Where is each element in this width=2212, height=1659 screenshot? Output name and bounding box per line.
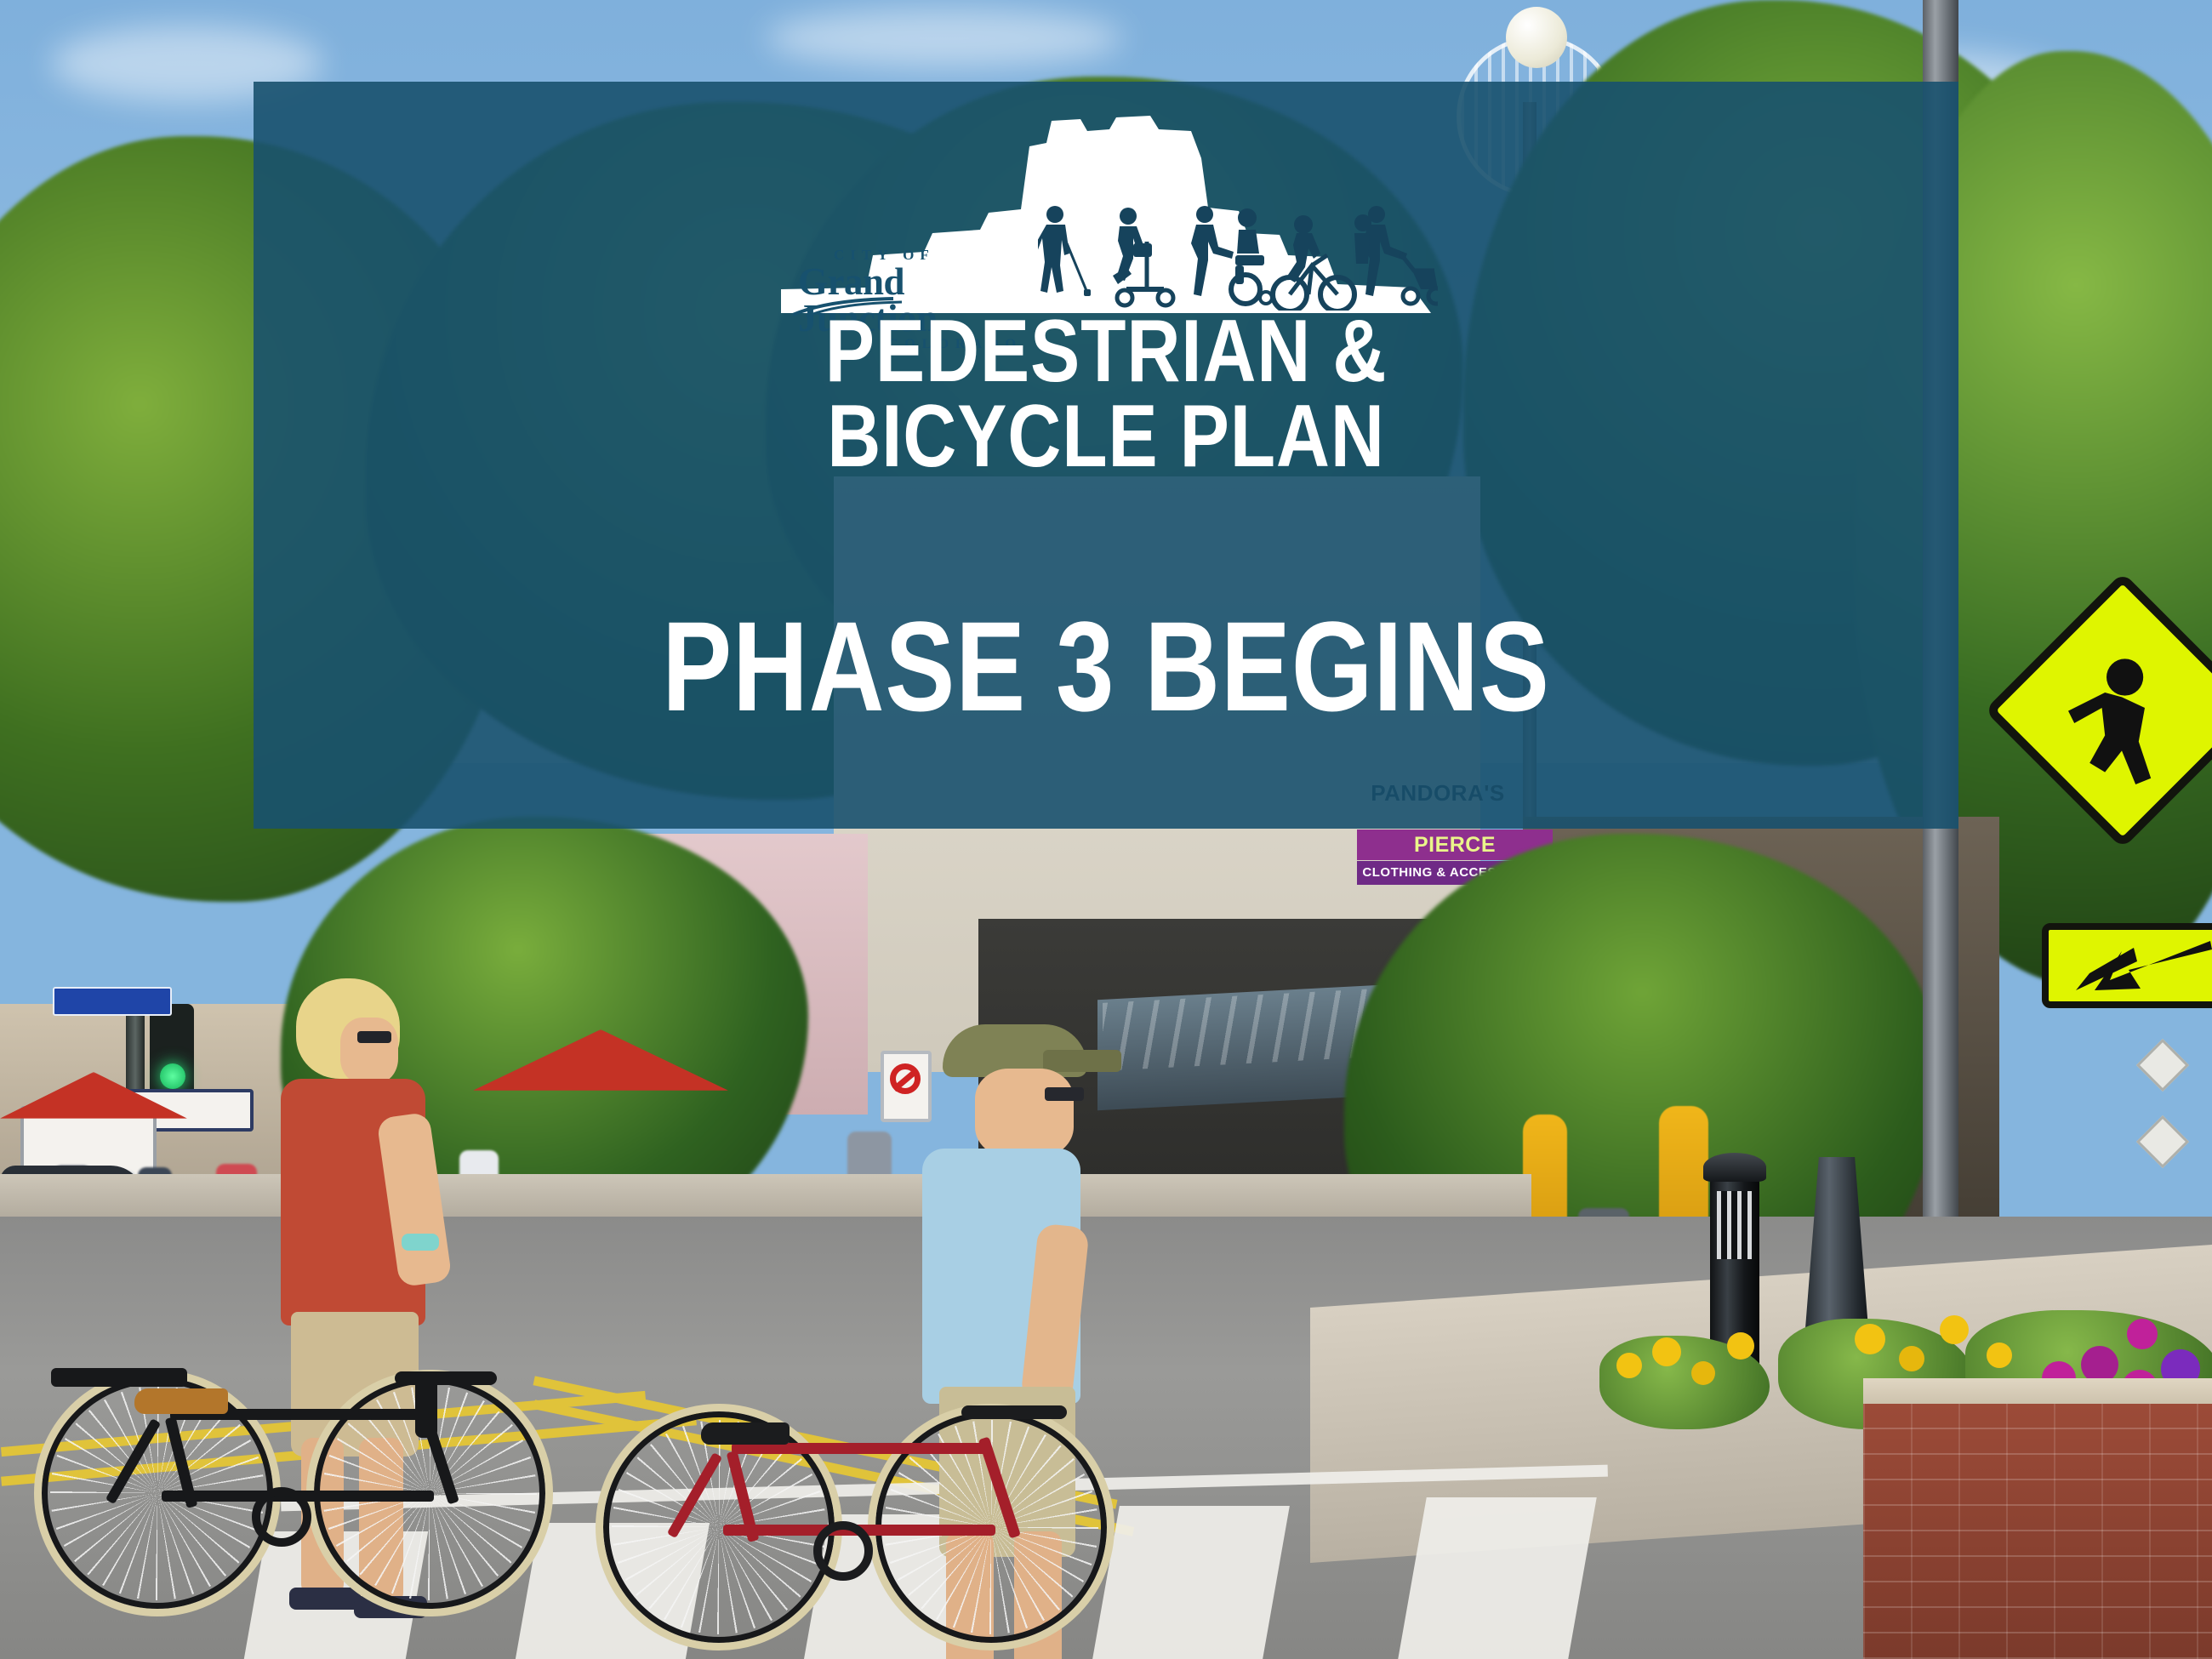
walker-with-cane-icon bbox=[1038, 206, 1091, 296]
traffic-signal-green-light bbox=[160, 1063, 185, 1089]
brick-planter bbox=[1863, 1404, 2212, 1659]
crosswalk-stripe bbox=[1398, 1497, 1597, 1659]
street-name-sign bbox=[53, 987, 172, 1016]
bicycle-red bbox=[596, 1302, 1140, 1659]
reflector-marker bbox=[2136, 1115, 2189, 1168]
wheelchair-pusher-icon bbox=[1191, 206, 1272, 304]
bike-rear-rack bbox=[51, 1368, 187, 1387]
bicycle-black bbox=[34, 1259, 579, 1616]
logo-lockup: CITY OF Grand Junction COLORADO bbox=[254, 105, 1958, 327]
bollard-stripes bbox=[1717, 1191, 1753, 1259]
flower-yellow bbox=[1727, 1332, 1754, 1360]
grand-junction-plan-logo: CITY OF Grand Junction COLORADO bbox=[766, 105, 1446, 327]
bicyclist-icon bbox=[1273, 215, 1354, 311]
flower-yellow bbox=[1940, 1315, 1969, 1344]
face bbox=[975, 1069, 1074, 1157]
brick-texture bbox=[1863, 1404, 2212, 1659]
sunglasses bbox=[357, 1031, 391, 1043]
flower-yellow bbox=[1987, 1343, 2012, 1368]
bike-chainring bbox=[252, 1487, 311, 1547]
wristband bbox=[402, 1234, 439, 1251]
activity-figures-group bbox=[1038, 204, 1438, 311]
scooter-rider-icon bbox=[1113, 208, 1173, 305]
plan-title-line-2: BICYCLE PLAN bbox=[390, 395, 1821, 480]
plan-title: PEDESTRIAN & BICYCLE PLAN bbox=[390, 310, 1821, 480]
bike-stem bbox=[415, 1378, 437, 1438]
sunglasses bbox=[1045, 1087, 1084, 1101]
bike-chainring bbox=[813, 1521, 873, 1581]
flower-yellow bbox=[1652, 1337, 1681, 1366]
cap-brim bbox=[1043, 1050, 1121, 1072]
down-left-arrow-icon bbox=[2059, 936, 2212, 995]
flower-yellow bbox=[1899, 1346, 1924, 1371]
bollard-cap bbox=[1703, 1153, 1766, 1182]
bike-handlebar bbox=[395, 1371, 497, 1385]
cloud bbox=[766, 9, 1123, 68]
flower-magenta bbox=[2127, 1319, 2158, 1349]
flower-yellow bbox=[1616, 1353, 1642, 1378]
banner-content: CITY OF Grand Junction COLORADO bbox=[254, 82, 1958, 829]
phase-subtitle: PHASE 3 BEGINS bbox=[407, 602, 1804, 730]
face bbox=[340, 1018, 398, 1084]
bike-saddle bbox=[701, 1422, 790, 1445]
flower-yellow bbox=[1855, 1324, 1885, 1354]
pedestrian-figure-icon bbox=[2038, 647, 2191, 800]
plan-title-line-1: PEDESTRIAN & bbox=[390, 310, 1821, 395]
globe-street-lamp bbox=[1506, 7, 1567, 68]
bike-handlebar bbox=[961, 1405, 1067, 1419]
flower-yellow bbox=[1691, 1361, 1715, 1385]
reflector-marker bbox=[2136, 1039, 2189, 1092]
stroller-pusher-icon bbox=[1354, 206, 1438, 304]
bike-saddle bbox=[134, 1388, 228, 1414]
poster-canvas: PANDORA'S PIERCE CLOTHING & ACCESSORIES … bbox=[0, 0, 2212, 1659]
